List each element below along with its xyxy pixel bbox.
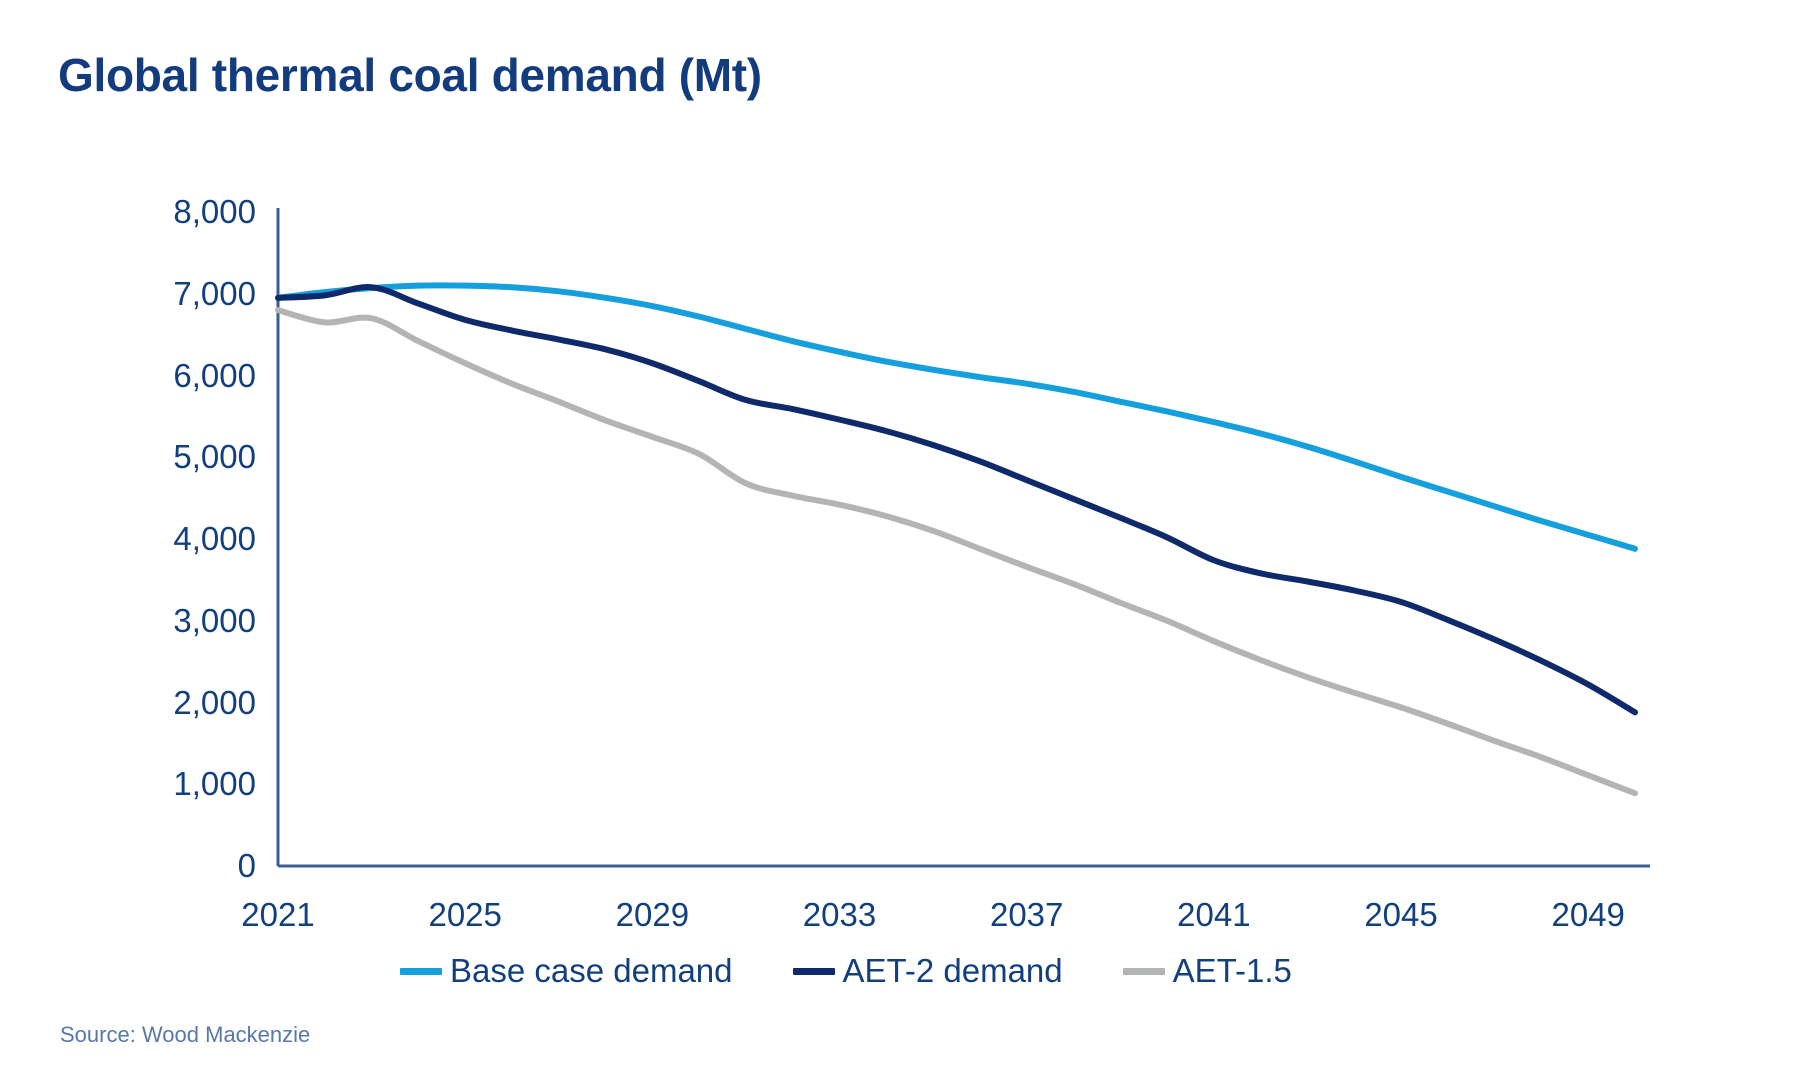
series-paths (278, 285, 1635, 793)
y-axis-tick-label: 3,000 (173, 602, 256, 640)
legend-item[interactable]: AET-1.5 (1123, 952, 1292, 990)
y-axis-tick-label: 7,000 (173, 275, 256, 313)
y-axis-tick-label: 8,000 (173, 193, 256, 231)
x-axis-tick-label: 2021 (241, 896, 314, 934)
legend-item-label: AET-1.5 (1173, 952, 1292, 990)
y-axis-tick-label: 0 (238, 847, 256, 885)
series-line-aet-2-demand (278, 287, 1635, 712)
line-swatch-aet2 (793, 968, 835, 975)
legend-item-label: Base case demand (450, 952, 733, 990)
x-axis-tick-label: 2025 (428, 896, 501, 934)
series-line-aet-1-5 (278, 310, 1635, 793)
x-axis-tick-label: 2041 (1177, 896, 1250, 934)
x-axis-tick-label: 2037 (990, 896, 1063, 934)
x-axis-tick-label: 2049 (1551, 896, 1624, 934)
legend-item[interactable]: Base case demand (400, 952, 733, 990)
y-axis-tick-label: 4,000 (173, 520, 256, 558)
y-axis-tick-label: 6,000 (173, 357, 256, 395)
chart-legend: Base case demandAET-2 demandAET-1.5 (400, 952, 1292, 990)
y-axis-tick-label: 5,000 (173, 438, 256, 476)
source-note: Source: Wood Mackenzie (60, 1022, 310, 1048)
legend-item[interactable]: AET-2 demand (793, 952, 1063, 990)
x-axis-tick-label: 2045 (1364, 896, 1437, 934)
legend-item-label: AET-2 demand (843, 952, 1063, 990)
line-swatch-aet15 (1123, 968, 1165, 975)
y-axis-tick-label: 2,000 (173, 684, 256, 722)
x-axis-tick-label: 2029 (616, 896, 689, 934)
y-axis-tick-label: 1,000 (173, 765, 256, 803)
line-swatch-base-case (400, 968, 442, 975)
x-axis-tick-label: 2033 (803, 896, 876, 934)
chart-figure: Global thermal coal demand (Mt) 8,0007,0… (0, 0, 1800, 1080)
